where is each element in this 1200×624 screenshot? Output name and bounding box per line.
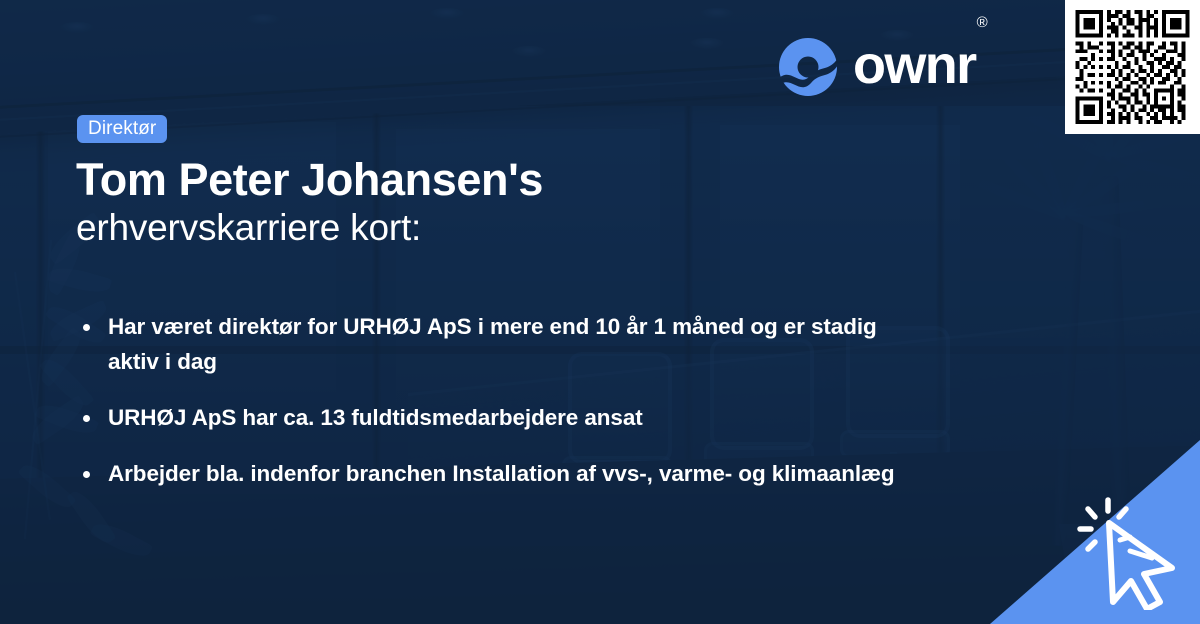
bullet-dot-icon — [83, 324, 90, 331]
page-title-line-1: Tom Peter Johansen's — [76, 155, 896, 205]
role-badge: Direktør — [77, 115, 167, 143]
ownr-wordmark: ownr — [853, 38, 976, 92]
ownr-logo[interactable]: ownr ® — [777, 36, 987, 98]
business-career-card: Direktør Tom Peter Johansen's erhvervska… — [0, 0, 1200, 624]
qr-code-icon — [1075, 10, 1190, 124]
page-title-line-2: erhvervskarriere kort: — [76, 205, 896, 251]
list-item: URHØJ ApS har ca. 13 fuldtidsmedarbejder… — [78, 401, 908, 436]
list-item-label: Har været direktør for URHØJ ApS i mere … — [108, 314, 877, 374]
qr-code[interactable] — [1065, 0, 1200, 134]
career-facts-list: Har været direktør for URHØJ ApS i mere … — [78, 310, 908, 492]
bullet-dot-icon — [83, 415, 90, 422]
list-item-label: Arbejder bla. indenfor branchen Installa… — [108, 461, 895, 486]
page-title: Tom Peter Johansen's erhvervskarriere ko… — [76, 155, 896, 252]
list-item: Har været direktør for URHØJ ApS i mere … — [78, 310, 908, 380]
bullet-dot-icon — [83, 471, 90, 478]
registered-trademark-icon: ® — [977, 14, 988, 31]
list-item-label: URHØJ ApS har ca. 13 fuldtidsmedarbejder… — [108, 405, 643, 430]
ownr-circle-wave-logo-icon — [777, 36, 839, 98]
list-item: Arbejder bla. indenfor branchen Installa… — [78, 457, 908, 492]
click-cursor-icon — [1068, 492, 1186, 610]
